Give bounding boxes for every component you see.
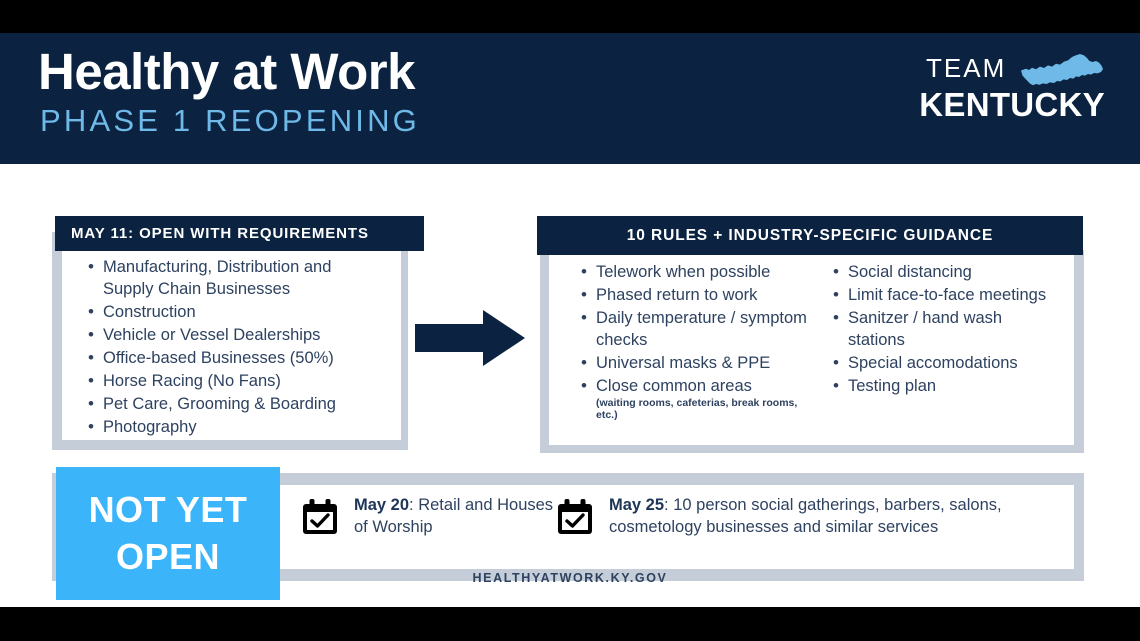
- rules-columns: Telework when possible Phased return to …: [579, 262, 1059, 423]
- right-panel-heading: 10 RULES + INDUSTRY-SPECIFIC GUIDANCE: [537, 216, 1083, 255]
- date-item-text: May 20: Retail and Houses of Worship: [354, 495, 555, 539]
- title-block: Healthy at Work PHASE 1 REOPENING: [38, 43, 420, 138]
- list-item: Sanitzer / hand wash stations: [831, 308, 1059, 352]
- slide-content: Healthy at Work PHASE 1 REOPENING TEAM K…: [0, 33, 1140, 607]
- open-with-requirements-list: Manufacturing, Distribution and Supply C…: [86, 257, 386, 440]
- logo-team-text: TEAM: [926, 55, 1006, 81]
- date-item-text: May 25: 10 person social gatherings, bar…: [609, 495, 1055, 539]
- list-item: Special accomodations: [831, 353, 1059, 375]
- left-panel-body: Manufacturing, Distribution and Supply C…: [62, 251, 401, 440]
- list-item: Horse Racing (No Fans): [86, 371, 386, 393]
- slide-canvas: Healthy at Work PHASE 1 REOPENING TEAM K…: [0, 0, 1140, 641]
- list-item: Social distancing: [831, 262, 1059, 284]
- list-item: Universal masks & PPE: [579, 353, 807, 375]
- page-title: Healthy at Work: [38, 43, 420, 100]
- list-item: Office-based Businesses (50%): [86, 348, 386, 370]
- list-item: Phased return to work: [579, 285, 807, 307]
- page-subtitle: PHASE 1 REOPENING: [40, 104, 420, 138]
- right-arrow-icon: [415, 310, 525, 366]
- list-item-label: Close common areas: [596, 377, 752, 395]
- kentucky-state-outline-icon: [1019, 53, 1105, 92]
- calendar-check-icon: [555, 497, 595, 542]
- footer-url[interactable]: HEALTHYATWORK.KY.GOV: [0, 571, 1140, 585]
- list-item-note: (waiting rooms, cafeterias, break rooms,…: [596, 397, 807, 422]
- date-item-may-20: May 20: Retail and Houses of Worship: [300, 495, 555, 542]
- letterbox-bottom-bar: [0, 607, 1140, 641]
- date-separator: :: [409, 496, 418, 514]
- list-item: Photography: [86, 417, 386, 439]
- badge-line-1: NOT YET: [89, 487, 248, 533]
- list-item: Vehicle or Vessel Dealerships: [86, 325, 386, 347]
- rules-column-right: Social distancing Limit face-to-face mee…: [831, 262, 1059, 423]
- date-item-may-25: May 25: 10 person social gatherings, bar…: [555, 495, 1055, 542]
- rules-column-left: Telework when possible Phased return to …: [579, 262, 807, 423]
- list-item: Close common areas (waiting rooms, cafet…: [579, 376, 807, 422]
- logo-kentucky-text: KENTUCKY: [905, 88, 1105, 121]
- list-item: Manufacturing, Distribution and Supply C…: [86, 257, 386, 301]
- date-label: May 25: [609, 496, 664, 514]
- right-panel-body: Telework when possible Phased return to …: [549, 255, 1074, 445]
- logo-top-row: TEAM: [905, 55, 1105, 85]
- list-item: Daily temperature / symptom checks: [579, 308, 807, 352]
- calendar-check-icon: [300, 497, 340, 542]
- left-panel-heading: MAY 11: OPEN WITH REQUIREMENTS: [55, 216, 424, 251]
- team-kentucky-logo: TEAM KENTUCKY: [905, 55, 1105, 121]
- date-label: May 20: [354, 496, 409, 514]
- list-item: Construction: [86, 302, 386, 324]
- letterbox-top-bar: [0, 0, 1140, 33]
- list-item: Pet Care, Grooming & Boarding: [86, 394, 386, 416]
- upcoming-dates: May 20: Retail and Houses of Worship May…: [300, 495, 1070, 542]
- header-band: Healthy at Work PHASE 1 REOPENING TEAM K…: [0, 33, 1140, 164]
- list-item: Telework when possible: [579, 262, 807, 284]
- date-separator: :: [664, 496, 673, 514]
- list-item: Limit face-to-face meetings: [831, 285, 1059, 307]
- list-item: Testing plan: [831, 376, 1059, 398]
